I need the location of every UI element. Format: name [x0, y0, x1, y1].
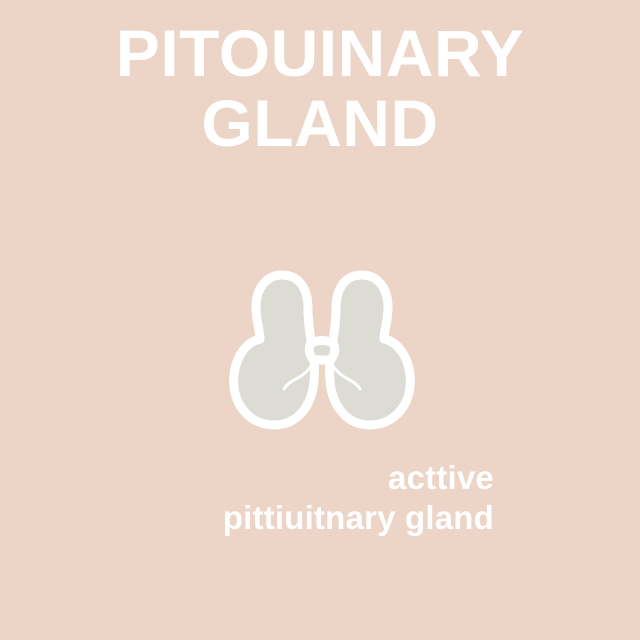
caption-line-1: acttive	[0, 458, 494, 498]
caption-line-2: pittiuitnary gland	[0, 498, 494, 538]
gland-icon	[222, 255, 422, 435]
caption: acttive pittiuitnary gland	[0, 458, 640, 538]
title-line-1: PITOUINARY	[0, 18, 640, 88]
title-line-2: GLAND	[0, 88, 640, 158]
gland-isthmus	[309, 341, 335, 361]
page-title: PITOUINARY GLAND	[0, 18, 640, 158]
illustration-container	[222, 255, 422, 435]
poster-canvas: PITOUINARY GLAND acttive pittiuitnary gl…	[0, 0, 640, 640]
gland-right-lobe	[330, 275, 411, 425]
gland-left-lobe	[234, 275, 315, 425]
